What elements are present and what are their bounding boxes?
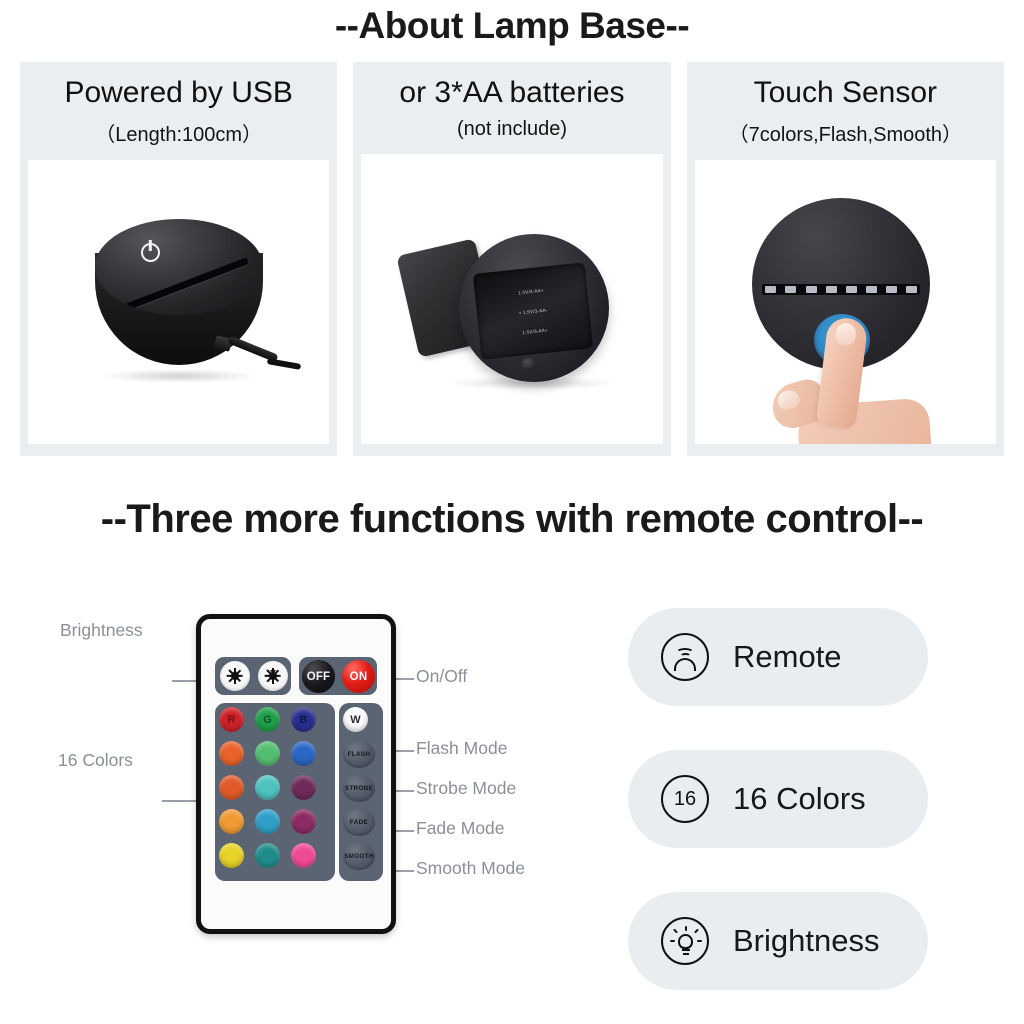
brightness-down-icon [266,669,281,684]
panel-subheading: （7colors,Flash,Smooth） [729,118,962,147]
panel-heading: Touch Sensor [754,76,937,110]
base-underside: 1.5V/3-AA+ + 1.5V/3-AA- 1.5V/3-AA+ [459,234,609,382]
callout-fade-mode: Fade Mode [416,818,505,839]
feature-pill-remote[interactable]: Remote [628,608,928,706]
panel-touch-sensor: Touch Sensor （7colors,Flash,Smooth） [687,62,1004,456]
flash-mode-button[interactable]: FLASH [343,741,375,768]
lamp-base-panel-group: Powered by USB （Length:100cm） or 3*AA [20,62,1004,456]
battery-polarity-label: 1.5V/3-AA+ [479,323,591,340]
color-button[interactable] [255,775,280,800]
color-button[interactable] [291,809,316,834]
panel-image-touch-sensor [695,160,996,444]
off-button[interactable]: OFF [302,660,335,693]
strobe-mode-button[interactable]: STROBE [343,775,375,802]
brightness-up-button[interactable] [220,661,250,691]
callout-smooth-mode: Smooth Mode [416,858,525,879]
base-top-surface [95,219,263,315]
color-button-label: R [228,714,236,726]
led-segment [886,286,897,293]
color-button-white[interactable]: W [343,707,368,732]
callout-brightness: Brightness [60,620,143,641]
feature-pill-label: Remote [733,639,842,675]
callout-on-off: On/Off [416,666,467,687]
color-button-green[interactable]: G [255,707,280,732]
panel-heading: Powered by USB [64,76,292,110]
panel-heading: or 3*AA batteries [399,76,624,110]
feature-pill-label: 16 Colors [733,781,866,817]
color-button-blue[interactable]: B [291,707,316,732]
led-segment [806,286,817,293]
led-segment [866,286,877,293]
battery-compartment-illustration: 1.5V/3-AA+ + 1.5V/3-AA- 1.5V/3-AA+ [407,222,617,394]
led-segment [846,286,857,293]
feature-pill-16-colors[interactable]: 16 16 Colors [628,750,928,848]
callout-strobe-mode: Strobe Mode [416,778,516,799]
led-segment [826,286,837,293]
color-button[interactable] [219,775,244,800]
base-shadow [101,369,257,383]
remote-control-diagram: Brightness 16 Colors On/Off Flash Mode S… [0,560,600,960]
color-button[interactable] [291,741,316,766]
thumb-nail [776,388,802,411]
panel-subheading: (not include) [457,118,567,141]
smooth-mode-button[interactable]: SMOOTH [343,843,375,870]
touch-sensor-illustration [740,196,950,396]
feature-pill-label: Brightness [733,923,879,959]
feature-pill-brightness[interactable]: Brightness [628,892,928,990]
color-button[interactable] [291,775,316,800]
page-title-about-lamp-base: --About Lamp Base-- [0,5,1024,47]
lightbulb-icon [661,917,709,965]
led-strip [762,284,920,295]
color-button[interactable] [255,741,280,766]
callout-flash-mode: Flash Mode [416,738,507,759]
led-segment [906,286,917,293]
battery-well: 1.5V/3-AA+ + 1.5V/3-AA- 1.5V/3-AA+ [473,262,593,359]
rubber-foot [521,358,537,371]
remote-icon [661,633,709,681]
remote-control-body: OFF ON R G B W [196,614,396,934]
on-button[interactable]: ON [342,660,375,693]
feature-pill-group: Remote 16 16 Colors Brightness [628,608,928,990]
color-button-label: B [300,714,308,726]
color-button-red[interactable]: R [219,707,244,732]
brightness-up-icon [228,669,243,684]
led-segment [785,286,796,293]
led-segment [765,286,776,293]
color-button[interactable] [255,809,280,834]
color-button[interactable] [255,843,280,868]
fade-mode-button[interactable]: FADE [343,809,375,836]
brightness-down-button[interactable] [258,661,288,691]
color-button[interactable] [219,809,244,834]
color-button[interactable] [219,741,244,766]
panel-image-usb-base [28,160,329,444]
battery-polarity-label: + 1.5V/3-AA- [477,303,589,320]
infographic-page: --About Lamp Base-- Powered by USB （Leng… [0,0,1024,1024]
lamp-base-usb-illustration [91,219,267,395]
finger-nail [835,322,858,346]
panel-image-battery-compartment: 1.5V/3-AA+ + 1.5V/3-AA- 1.5V/3-AA+ [361,154,662,444]
panel-powered-by-usb: Powered by USB （Length:100cm） [20,62,337,456]
color-button[interactable] [291,843,316,868]
panel-subheading: （Length:100cm） [95,118,262,147]
page-title-remote-functions: --Three more functions with remote contr… [0,497,1024,542]
color-button-label: G [263,714,272,726]
battery-polarity-label: 1.5V/3-AA+ [475,283,587,300]
color-button[interactable] [219,843,244,868]
panel-aa-batteries: or 3*AA batteries (not include) 1.5V/3-A… [353,62,670,456]
sixteen-badge-text: 16 [674,788,696,811]
color-button-label: W [350,714,360,726]
sixteen-circle-icon: 16 [661,775,709,823]
callout-16-colors: 16 Colors [58,750,133,771]
power-icon [141,243,160,262]
usb-cable-tail [266,359,301,371]
